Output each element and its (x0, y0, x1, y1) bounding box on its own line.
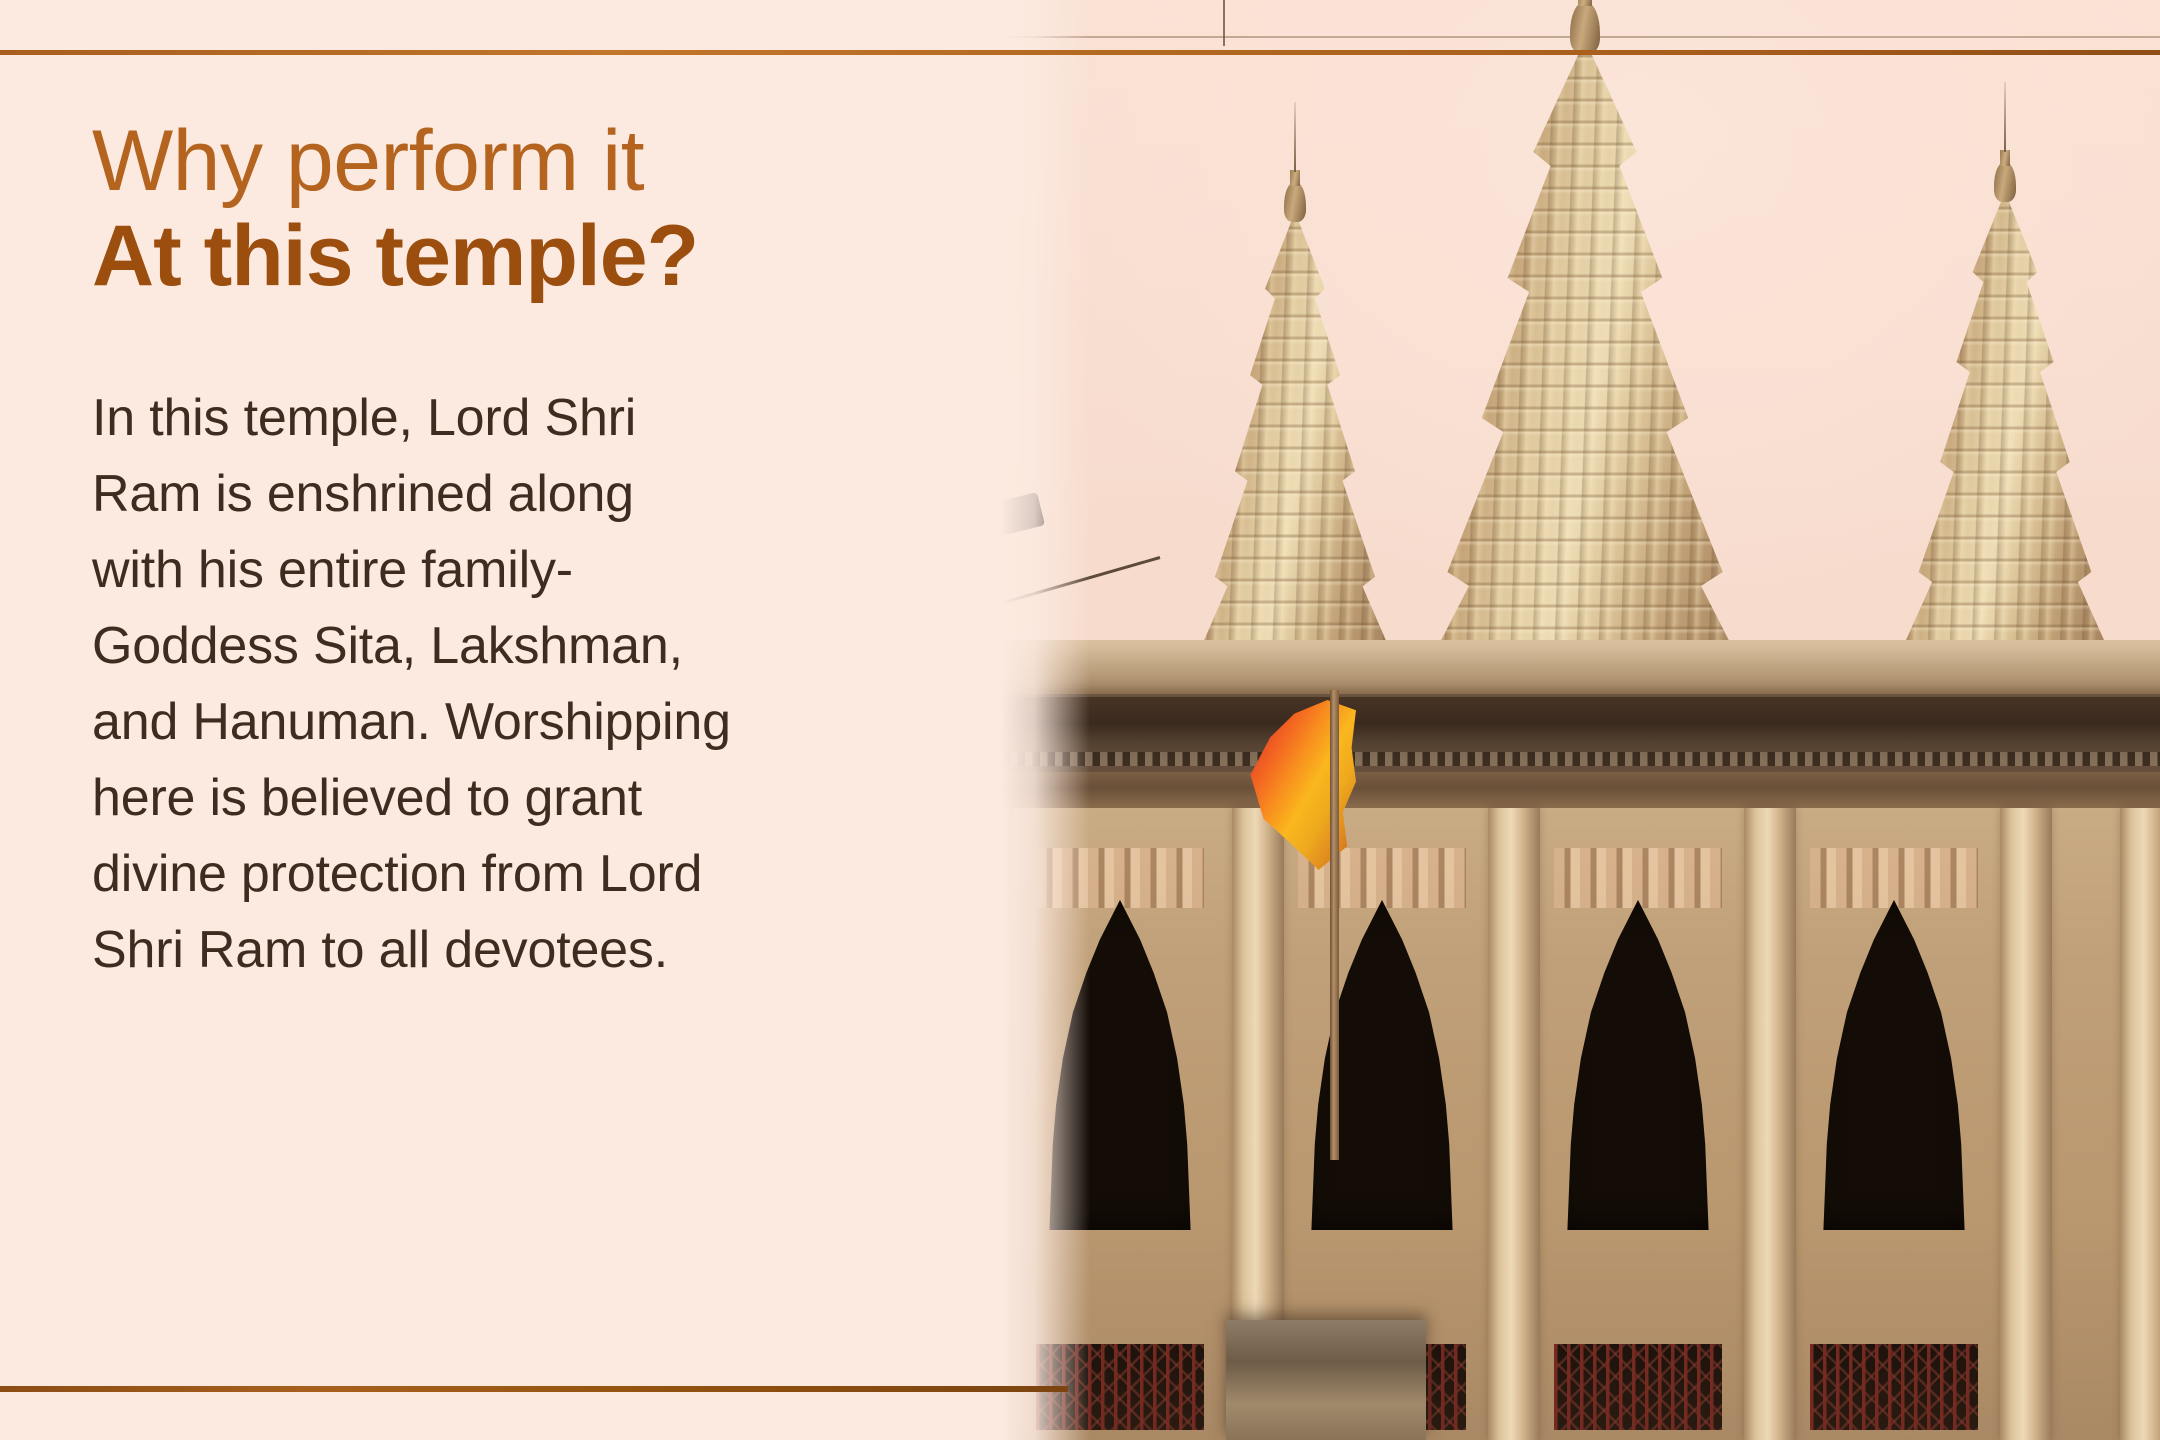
bottom-divider (0, 1386, 1068, 1392)
facade-pier (2120, 808, 2160, 1440)
facade-pier (2000, 808, 2052, 1440)
antenna-rod (1223, 0, 1225, 46)
cornice-dentils (1000, 752, 2160, 766)
finial-rod-left (1294, 102, 1296, 172)
arch-frieze (1810, 848, 1978, 908)
page-title-line-2: At this temple? (92, 206, 992, 307)
finial-rod-right (2004, 82, 2006, 152)
temple-balcony (1226, 1320, 1426, 1440)
kalash-right (1994, 162, 2016, 202)
body-paragraph: In this temple, Lord Shri Ram is enshrin… (92, 381, 732, 988)
arch-grille (1810, 1344, 1978, 1430)
temple-facade (1000, 808, 2160, 1440)
temple-arch (1298, 900, 1466, 1230)
shikhara-main-bands (1370, 40, 1800, 740)
text-column: Why perform it At this temple? In this t… (92, 118, 992, 988)
temple-eave (1000, 772, 2160, 808)
facade-pier (1000, 808, 1012, 1440)
temple-arch (1810, 900, 1978, 1230)
shikhara-main-cone (1370, 40, 1800, 740)
shikhara-right (1870, 192, 2140, 692)
temple-arch (1554, 900, 1722, 1230)
kalash-main (1570, 2, 1600, 54)
temple-arch (1036, 900, 1204, 1230)
facade-pier (1744, 808, 1796, 1440)
facade-pier (1488, 808, 1540, 1440)
shikhara-right-bands (1870, 192, 2140, 692)
arch-grille (1554, 1344, 1722, 1430)
info-card: Why perform it At this temple? In this t… (0, 0, 2160, 1440)
temple-photo (1000, 0, 2160, 1440)
kalash-left (1284, 182, 1306, 222)
arch-frieze (1036, 848, 1204, 908)
arch-frieze (1554, 848, 1722, 908)
kalash-neck-main (1578, 0, 1592, 6)
shikhara-right-cone (1870, 192, 2140, 692)
kalash-neck-right (2000, 150, 2010, 166)
temple-parapet (1000, 640, 2160, 694)
top-divider (0, 50, 2160, 55)
parapet-shading (1000, 640, 2160, 694)
flag-pole (1330, 690, 1339, 1160)
page-title-line-1: Why perform it (92, 118, 992, 206)
temple-cornice (1000, 694, 2160, 772)
kalash-neck-left (1290, 170, 1300, 186)
shikhara-main (1370, 40, 1800, 740)
